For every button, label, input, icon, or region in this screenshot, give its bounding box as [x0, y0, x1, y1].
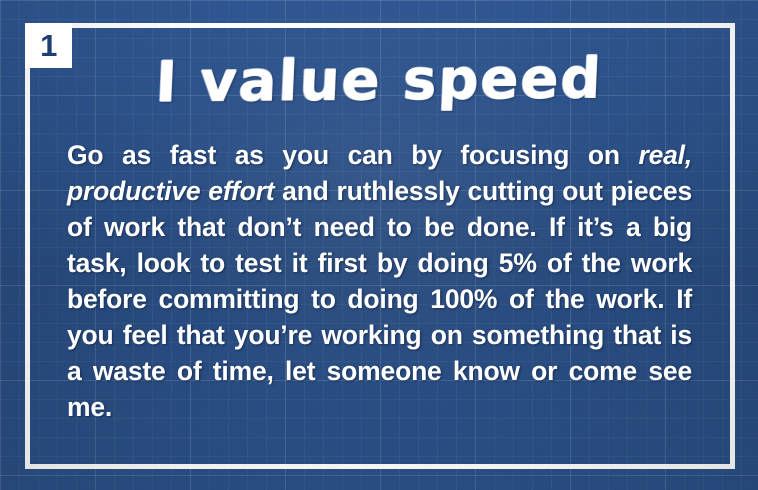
body-segment-before-emphasis: Go as fast as you can by focusing on [67, 140, 638, 170]
slide-number-badge: 1 [25, 23, 72, 68]
slide-content: I value speed Go as fast as you can by f… [42, 40, 716, 450]
slide-number-text: 1 [40, 30, 57, 61]
body-segment-after-emphasis: and ruthlessly cutting out pieces of wor… [67, 176, 692, 422]
slide-title: I value speed [41, 49, 718, 114]
slide-body-paragraph: Go as fast as you can by focusing on rea… [42, 137, 692, 425]
blueprint-slide: 1 I value speed Go as fast as you can by… [0, 0, 758, 490]
